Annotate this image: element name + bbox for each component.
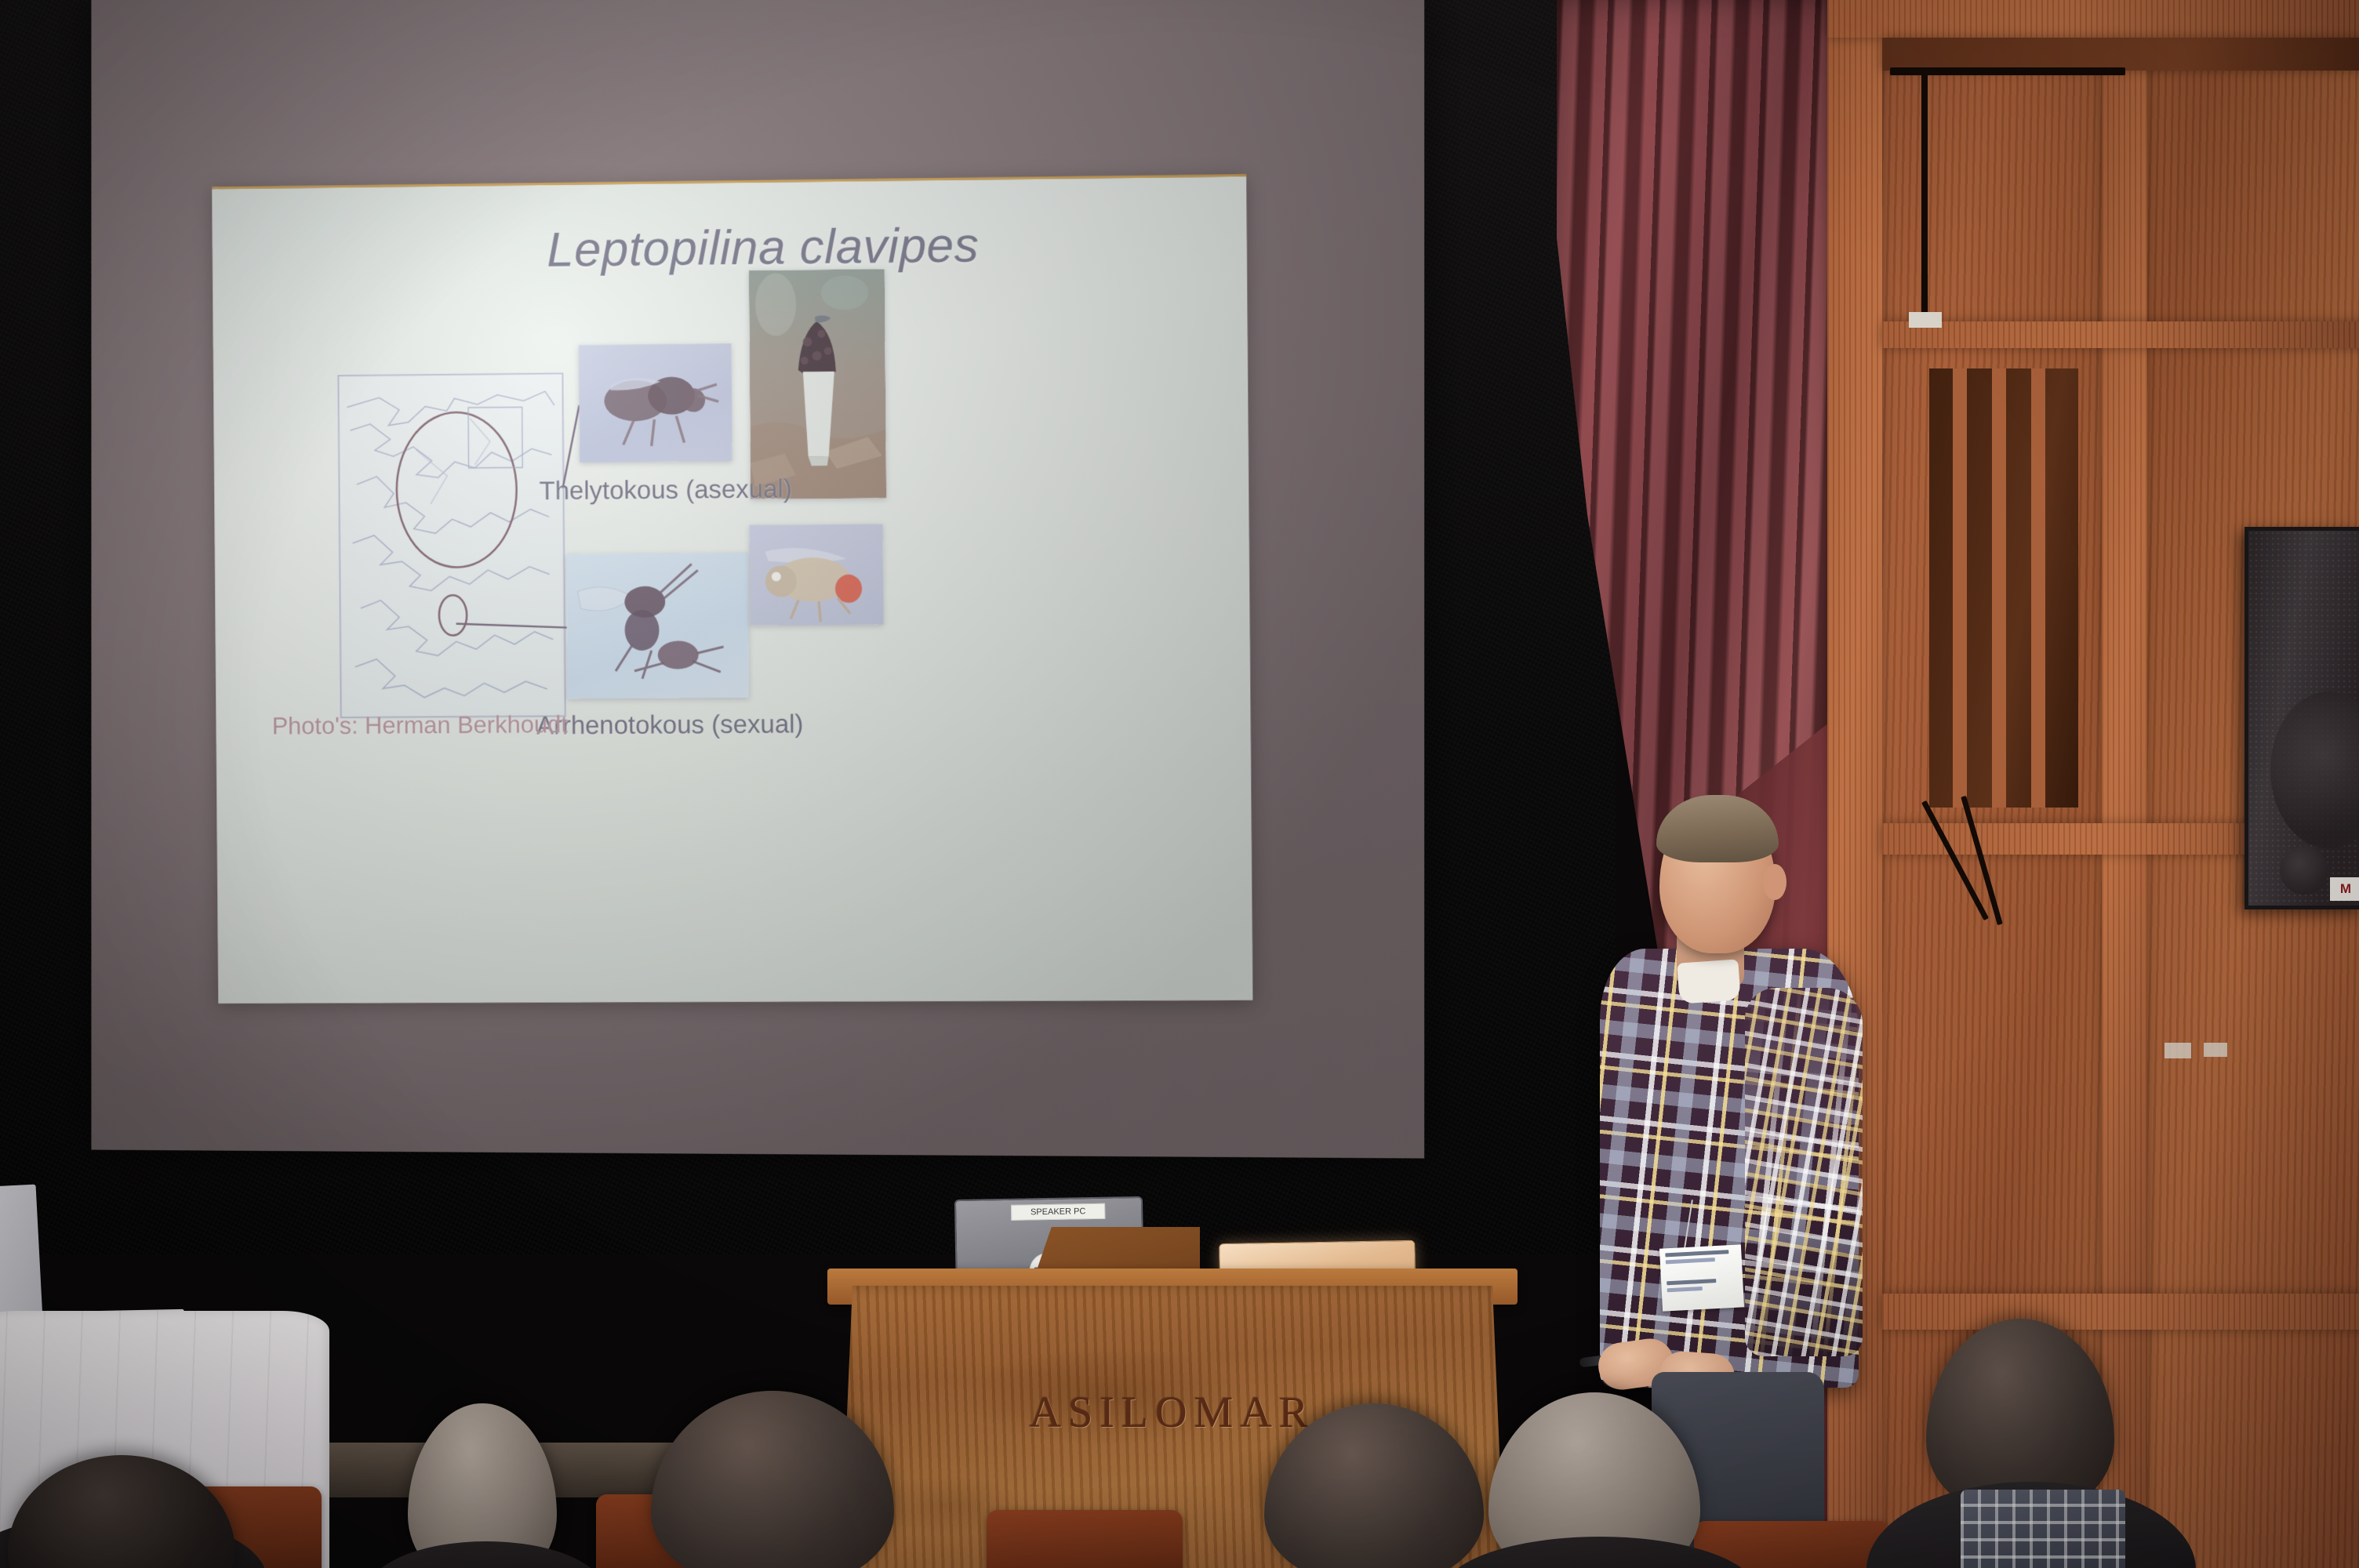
drosophila-fly-photo — [749, 524, 883, 625]
wall-beam-horizontal-bottom — [1882, 1294, 2359, 1330]
cable-horizontal — [1890, 67, 2125, 75]
wall-beam-shadow-top — [1882, 38, 2359, 71]
badge-line-2 — [1666, 1258, 1715, 1264]
wasp-asexual-photo — [579, 343, 732, 463]
projection-screen: Leptopilina clavipes — [91, 0, 1424, 1159]
audience-plaid-garment — [1961, 1490, 2125, 1568]
presenter-hair — [1656, 795, 1779, 862]
wall-fixture — [2165, 1043, 2191, 1058]
cable-vertical — [1921, 71, 1928, 321]
wall-outlet-plate — [1909, 312, 1942, 328]
badge-line-4 — [1667, 1287, 1703, 1292]
speaker-tweeter — [2280, 846, 2328, 895]
theater-seat — [987, 1510, 1183, 1568]
wall-beam-horizontal-upper — [1882, 321, 2359, 348]
europe-distribution-map — [337, 372, 565, 718]
photo-credit: Photo's: Herman Berkhoudt — [272, 710, 568, 740]
wall-slat-2 — [1992, 368, 2006, 808]
wall-beam-vertical-mid — [2102, 0, 2147, 1568]
caption-thelytokous: Thelytokous (asexual) — [540, 474, 792, 506]
presenter-sleeve — [1745, 988, 1863, 1356]
wall-slat-1 — [1953, 368, 1967, 808]
wall-slat-3 — [2031, 368, 2045, 808]
auditorium-scene: Leptopilina clavipes — [0, 0, 2359, 1568]
side-table-macbook[interactable] — [0, 1185, 42, 1322]
stinkhorn-mushroom-photo — [749, 269, 887, 499]
slide-title: Leptopilina clavipes — [547, 217, 980, 278]
presenter-undershirt — [1677, 959, 1740, 1004]
badge-line-1 — [1665, 1250, 1728, 1257]
wasp-pair-sexual-photo — [566, 553, 749, 699]
speaker-woofer — [2270, 691, 2359, 848]
presentation-slide: Leptopilina clavipes — [212, 174, 1252, 1004]
caption-arrhenotokous: Arrhenotokous (sexual) — [536, 709, 804, 740]
audience-shoulders — [369, 1541, 604, 1568]
wall-beam-horizontal-top — [1827, 0, 2359, 38]
conference-name-badge — [1659, 1244, 1744, 1311]
pa-speaker: M — [2245, 527, 2359, 909]
presenter-ear — [1763, 864, 1787, 900]
laptop-asset-label: SPEAKER PC — [1011, 1203, 1105, 1221]
speaker-brand-badge: M — [2330, 877, 2359, 901]
wall-fixture-2 — [2204, 1043, 2227, 1057]
